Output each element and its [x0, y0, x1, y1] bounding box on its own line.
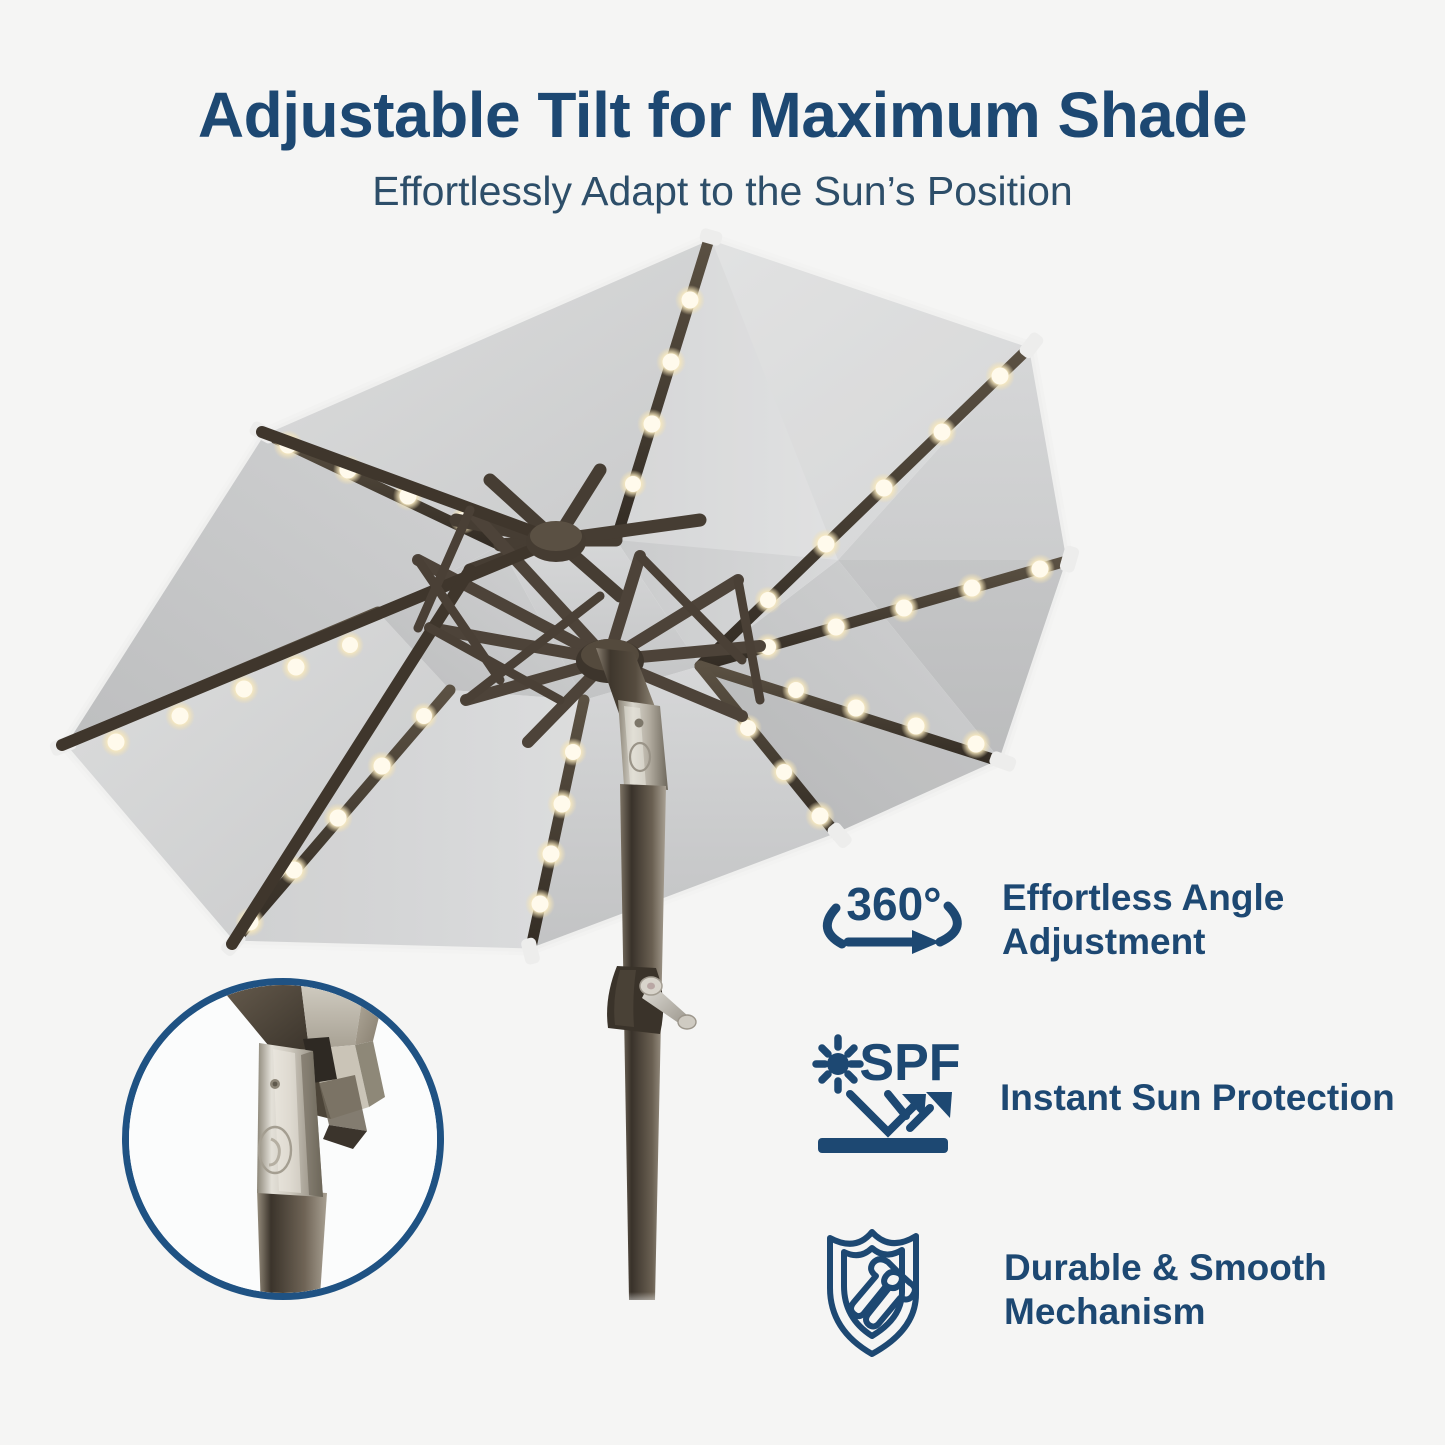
- feature-label: Instant Sun Protection: [1000, 1076, 1395, 1120]
- tilt-collar: [618, 700, 668, 790]
- feature-item-sun-protection: SPF Instant Sun Protection: [806, 1032, 1395, 1164]
- tilt-mechanism-closeup: [122, 978, 444, 1300]
- svg-text:SPF: SPF: [859, 1034, 960, 1092]
- infographic-canvas: Adjustable Tilt for Maximum Shade Effort…: [0, 0, 1445, 1445]
- 360-degree-rotation-icon: 360°: [808, 872, 980, 968]
- spf-sun-protection-icon: SPF: [806, 1032, 978, 1164]
- closeup-art: [123, 979, 444, 1300]
- feature-label: Effortless Angle Adjustment: [1002, 876, 1284, 963]
- feature-item-durable-mechanism: Durable & Smooth Mechanism: [812, 1218, 1327, 1362]
- crank-housing: [607, 966, 696, 1034]
- svg-text:360°: 360°: [846, 878, 941, 930]
- feature-label: Durable & Smooth Mechanism: [1004, 1246, 1327, 1333]
- canopy: [62, 236, 1070, 952]
- shield-wrench-icon: [812, 1218, 976, 1362]
- feature-item-angle-adjustment: 360° Effortless Angle Adjustment: [808, 872, 1284, 968]
